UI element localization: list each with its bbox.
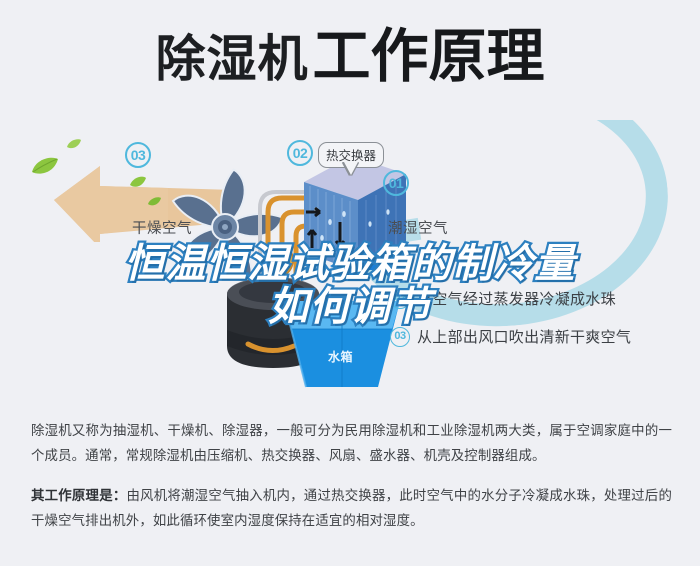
paragraph-definition: 除湿机又称为抽湿机、干燥机、除湿器，一般可分为民用除湿机和工业除湿机两大类，属于… xyxy=(31,418,672,468)
leaf-icon xyxy=(30,156,60,176)
page-title: 除湿机工作原理 xyxy=(0,28,700,86)
water-tank xyxy=(282,295,402,395)
infographic-page: 除湿机工作原理 xyxy=(0,0,700,566)
legend-item: 02 显空气经过蒸发器冷凝成水珠 xyxy=(390,288,690,309)
leaf-icon xyxy=(129,175,147,189)
label-dry-air: 干燥空气 xyxy=(132,217,192,238)
diagram-badge-03: 03 xyxy=(125,142,151,168)
legend-item: 03 从上部出风口吹出清新干爽空气 xyxy=(390,326,690,347)
callout-pointer-icon xyxy=(344,162,358,175)
diagram-legend: 02 显空气经过蒸发器冷凝成水珠 03 从上部出风口吹出清新干爽空气 xyxy=(390,288,690,364)
label-humid-air: 潮湿空气 xyxy=(388,217,448,238)
air-intake-arrow-icon xyxy=(330,255,410,277)
label-water-tank: 水箱 xyxy=(328,348,353,365)
page-title-primary: 除湿机 xyxy=(155,31,308,87)
leaf-icon xyxy=(66,138,82,150)
legend-label: 显空气经过蒸发器冷凝成水珠 xyxy=(417,288,616,309)
page-title-secondary: 工作原理 xyxy=(312,24,544,89)
legend-badge: 02 xyxy=(390,289,410,309)
diagram-badge-01: 01 xyxy=(383,170,409,196)
article-body: 除湿机又称为抽湿机、干燥机、除湿器，一般可分为民用除湿机和工业除湿机两大类，属于… xyxy=(31,418,672,533)
legend-badge: 03 xyxy=(390,327,410,347)
legend-label: 从上部出风口吹出清新干爽空气 xyxy=(417,326,631,347)
diagram-badge-02: 02 xyxy=(287,140,313,166)
paragraph-principle: 其工作原理是：由风机将潮湿空气抽入机内，通过热交换器，此时空气中的水分子冷凝成水… xyxy=(31,483,672,533)
paragraph-principle-lead: 其工作原理是： xyxy=(31,488,126,503)
paragraph-principle-rest: 由风机将潮湿空气抽入机内，通过热交换器，此时空气中的水分子冷凝成水珠，处理过后的… xyxy=(31,488,672,528)
